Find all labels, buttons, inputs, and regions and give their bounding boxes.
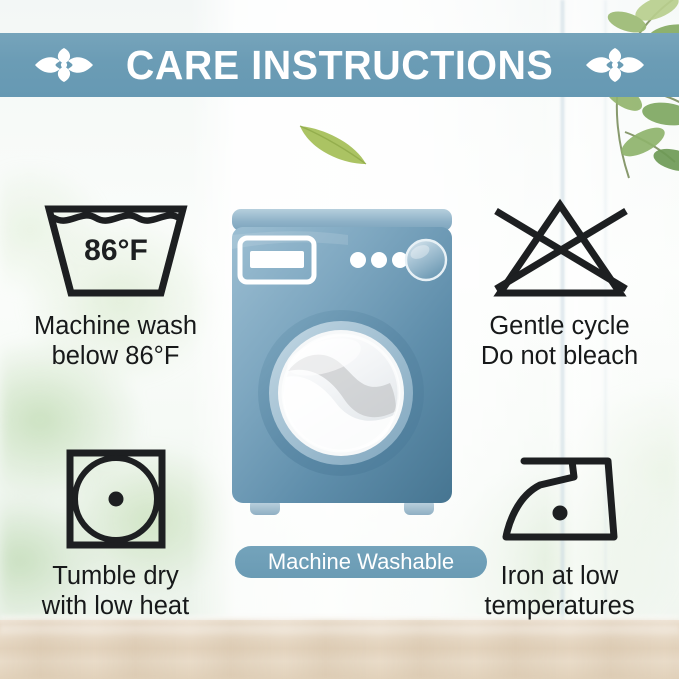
iron-low-heat-icon	[496, 447, 624, 551]
care-item-iron: Iron at low temperatures	[452, 445, 667, 621]
header-banner: CARE INSTRUCTIONS	[0, 33, 679, 97]
no-bleach-triangle-icon	[486, 197, 634, 301]
care-caption-machine-wash: Machine wash below 86°F	[34, 312, 197, 371]
care-instructions-infographic: CARE INSTRUCTIONS 86°F Machine wash belo…	[0, 0, 679, 679]
badge-label: Machine Washable	[268, 551, 454, 573]
caption-line-2: Do not bleach	[481, 342, 638, 372]
caption-line-1: Iron at low	[484, 562, 634, 592]
care-item-tumble-dry: Tumble dry with low heat	[8, 445, 223, 621]
caption-line-2: with low heat	[42, 592, 189, 622]
wash-tub-icon: 86°F	[43, 197, 189, 301]
care-caption-tumble-dry: Tumble dry with low heat	[42, 562, 189, 621]
wood-grain	[0, 620, 679, 679]
caption-line-2: temperatures	[484, 592, 634, 622]
no-bleach-icon-wrap	[486, 195, 634, 303]
floating-leaf-decoration	[296, 120, 370, 168]
control-dot	[350, 252, 366, 268]
care-caption-do-not-bleach: Gentle cycle Do not bleach	[481, 312, 638, 371]
wash-tub-icon-wrap: 86°F	[43, 195, 189, 303]
iron-icon-wrap	[496, 445, 624, 553]
banner-title: CARE INSTRUCTIONS	[126, 45, 553, 86]
tumble-dry-low-icon	[64, 447, 168, 551]
caption-line-1: Tumble dry	[42, 562, 189, 592]
caption-line-1: Machine wash	[34, 312, 197, 342]
dial-knob	[406, 240, 446, 280]
caption-line-1: Gentle cycle	[481, 312, 638, 342]
care-item-do-not-bleach: Gentle cycle Do not bleach	[452, 195, 667, 371]
fleur-de-lis-icon	[584, 45, 646, 85]
caption-line-2: below 86°F	[34, 342, 197, 372]
care-item-machine-wash: 86°F Machine wash below 86°F	[8, 195, 223, 371]
wood-table-surface	[0, 620, 679, 679]
wash-temperature-label: 86°F	[84, 234, 148, 267]
washing-machine-illustration	[228, 205, 456, 530]
tumble-dry-icon-wrap	[64, 445, 168, 553]
fleur-de-lis-icon	[33, 45, 95, 85]
machine-washable-badge: Machine Washable	[235, 546, 487, 578]
control-dot	[371, 252, 387, 268]
washer-door	[258, 310, 424, 476]
care-caption-iron: Iron at low temperatures	[484, 562, 634, 621]
